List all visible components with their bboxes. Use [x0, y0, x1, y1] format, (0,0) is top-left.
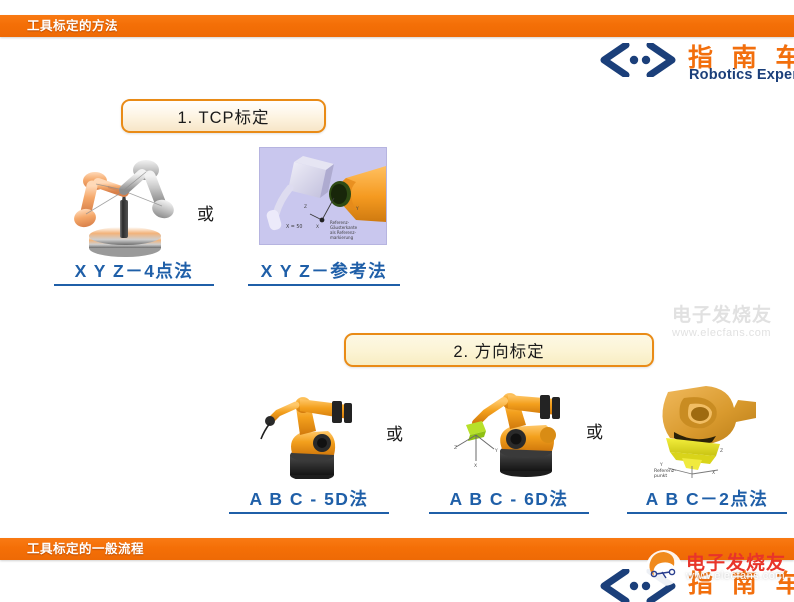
- logo-english-name: Robotics Expert: [689, 67, 794, 83]
- section-2-heading: 2. 方向标定: [344, 333, 654, 367]
- section-2-heading-text: 2. 方向标定: [453, 338, 544, 362]
- link-abc-2-point[interactable]: A B C－2点法: [627, 486, 787, 514]
- section-1-heading: 1. TCP标定: [121, 99, 326, 133]
- svg-text:X: X: [316, 224, 319, 230]
- top-title-bar: 工具标定的方法: [0, 15, 794, 37]
- art-orange-robot-arm-6d-frame: Z Y X: [452, 383, 582, 479]
- svg-text:Y: Y: [659, 462, 663, 468]
- svg-text:Z: Z: [304, 204, 307, 210]
- watermark-faint-url: www.elecfans.com: [672, 327, 772, 339]
- brand-logo: 指 南 车 Robotics Expert: [596, 40, 788, 86]
- svg-text:Y: Y: [355, 206, 359, 212]
- section-1-heading-text: 1. TCP标定: [177, 104, 269, 128]
- svg-text:Z: Z: [720, 448, 723, 454]
- svg-text:X: X: [712, 470, 715, 476]
- connector-or-2: 或: [386, 420, 403, 445]
- connector-or-1: 或: [197, 200, 214, 225]
- svg-text:markierung: markierung: [330, 235, 354, 240]
- watermark-faint: 电子发烧友 www.elecfans.com: [672, 300, 772, 339]
- link-abc-6d[interactable]: A B C - 6D法: [429, 486, 589, 514]
- slide-canvas: 工具标定的方法 指 南 车 Robotics Expert 1. TCP标定: [0, 0, 794, 602]
- connector-or-3: 或: [586, 418, 603, 443]
- brand-logo-bottom: 指 南 车: [596, 566, 788, 602]
- chevron-dots-logo-icon-bottom: [596, 569, 680, 602]
- svg-text:X: X: [474, 463, 477, 469]
- svg-text:Y: Y: [494, 448, 498, 454]
- bottom-title-text: 工具标定的一般流程: [27, 538, 144, 560]
- art-orange-robot-arm-5d: [252, 383, 368, 479]
- svg-text:Z: Z: [454, 445, 457, 451]
- link-xyz-4-point[interactable]: X Y Z－4点法: [54, 258, 214, 286]
- chevron-dots-logo-icon: [596, 43, 680, 77]
- bottom-title-bar: 工具标定的一般流程: [0, 538, 794, 560]
- svg-text:X = 50: X = 50: [286, 224, 302, 230]
- link-abc-5d[interactable]: A B C - 5D法: [229, 486, 389, 514]
- art-robot-flange-reference-photo: Z X Y X = 50 Referenz- Gäusterkante als …: [259, 147, 387, 245]
- logo-chinese-name-bottom: 指 南 车: [688, 564, 794, 600]
- art-orange-gripper-reference-point: Y Z X Referenz- punkt: [646, 378, 774, 480]
- top-title-text: 工具标定的方法: [27, 15, 118, 37]
- watermark-faint-text: 电子发烧友: [672, 300, 772, 327]
- art-robot-two-pose-point-calibration: [62, 148, 214, 260]
- link-xyz-reference[interactable]: X Y Z－参考法: [248, 258, 400, 286]
- svg-text:punkt: punkt: [654, 473, 667, 479]
